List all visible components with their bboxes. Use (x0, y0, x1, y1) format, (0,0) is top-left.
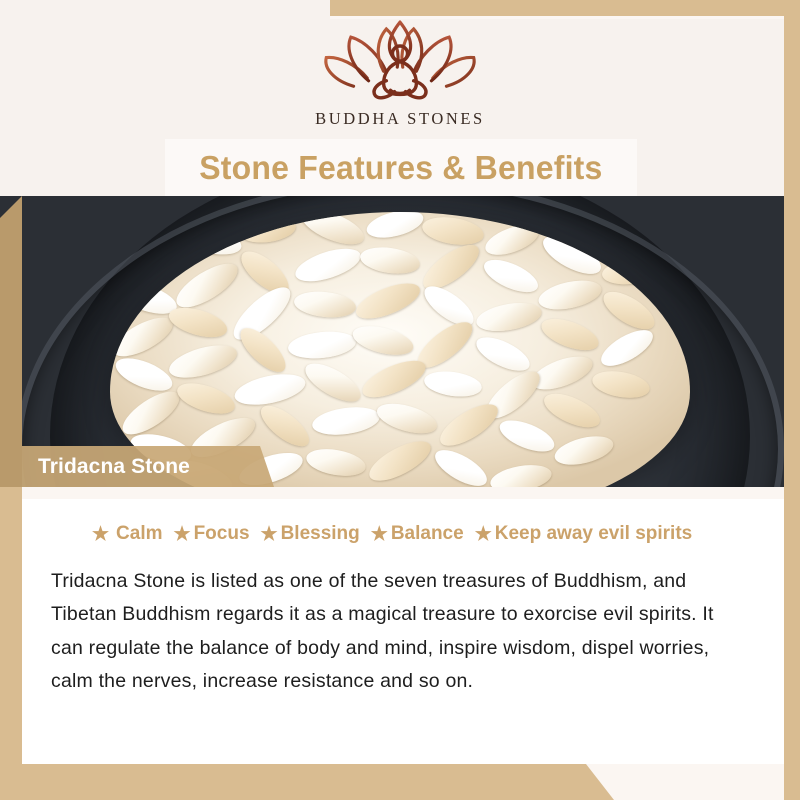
star-icon: ★ (261, 525, 278, 544)
star-icon: ★ (475, 525, 492, 544)
frame-bottom-strip (0, 764, 614, 800)
stone-description: Tridacna Stone is listed as one of the s… (34, 565, 754, 699)
frame-right-strip (784, 0, 800, 800)
benefit-item-keep-away-evil-spirits: ★ Keep away evil spirits (475, 523, 693, 545)
hero-image (0, 196, 800, 487)
benefit-item-blessing: ★ Blessing (261, 523, 360, 545)
page-title: Stone Features & Benefits (199, 149, 602, 187)
benefit-label: Blessing (281, 523, 360, 545)
content-panel: ★ Calm ★ Focus ★ Blessing ★ Balance ★ (22, 487, 800, 764)
frame-top-strip (330, 0, 800, 16)
star-icon: ★ (174, 525, 191, 544)
stone-name-label: Tridacna Stone (22, 455, 190, 479)
lotus-meditation-icon (318, 18, 482, 104)
benefit-item-balance: ★ Balance (371, 523, 464, 545)
frame-top-inner-line (330, 16, 784, 19)
stone-name-banner: Tridacna Stone (22, 446, 274, 487)
promo-page: BUDDHA STONES Stone Features & Benefits (0, 0, 800, 800)
benefit-item-calm: ★ Calm (92, 523, 163, 545)
title-plate: Stone Features & Benefits (165, 139, 637, 196)
benefits-row: ★ Calm ★ Focus ★ Blessing ★ Balance ★ (34, 523, 754, 545)
benefit-label: Calm (116, 523, 162, 545)
brand-wordmark: BUDDHA STONES (315, 109, 485, 129)
content-inner: ★ Calm ★ Focus ★ Blessing ★ Balance ★ (22, 499, 784, 764)
star-icon: ★ (371, 525, 388, 544)
benefit-label: Keep away evil spirits (495, 523, 693, 545)
benefit-item-focus: ★ Focus (174, 523, 250, 545)
benefit-label: Focus (194, 523, 250, 545)
benefit-label: Balance (391, 523, 464, 545)
frame-left-lower-strip (0, 487, 22, 800)
star-icon: ★ (92, 525, 109, 544)
brand-header: BUDDHA STONES (0, 0, 800, 140)
